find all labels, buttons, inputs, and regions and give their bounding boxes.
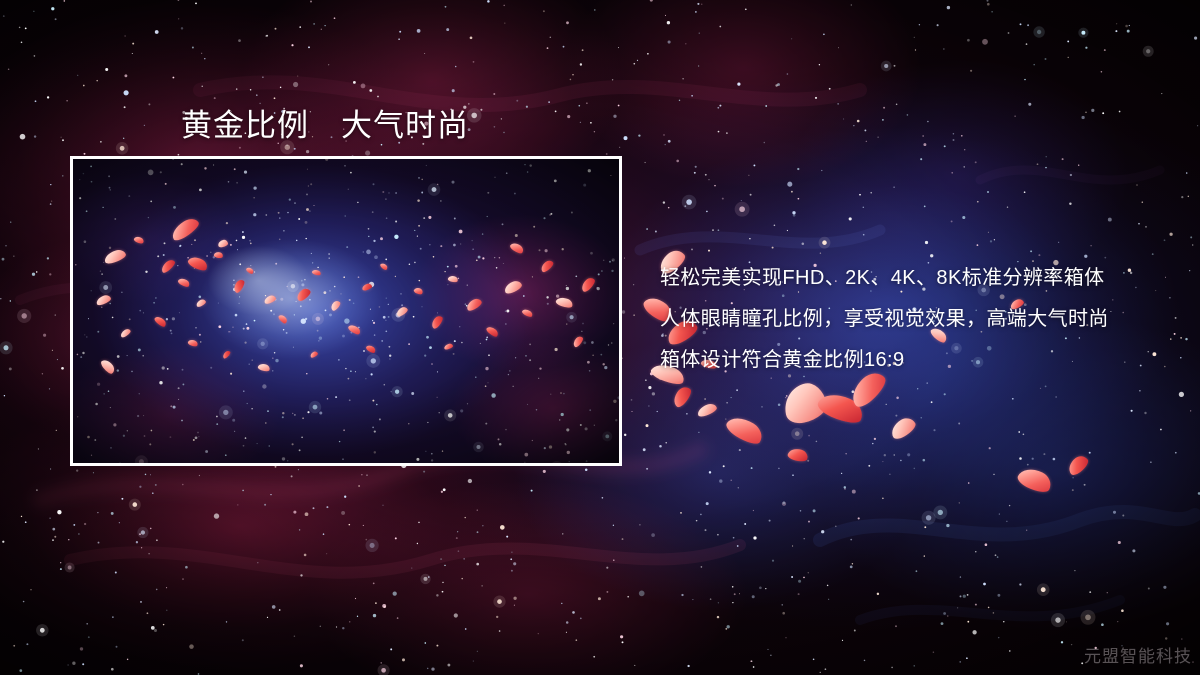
framed-image-panel [70,156,622,466]
petal [1065,453,1091,478]
body-text-block: 轻松完美实现FHD、2K、4K、8K标准分辨率箱体 人体眼睛瞳孔比例，享受视觉效… [660,258,1160,381]
petal [781,380,830,426]
petal [1015,464,1054,497]
panel-image [73,159,619,463]
body-line-1: 轻松完美实现FHD、2K、4K、8K标准分辨率箱体 [660,258,1160,299]
petal [670,384,694,409]
petal [888,415,919,442]
watermark-logo-text: 元盟智能科技 [1084,642,1192,667]
body-line-2: 人体眼睛瞳孔比例，享受视觉效果，高端大气时尚 [660,299,1160,340]
presentation-slide: 黄金比例 大气时尚 轻松完美实现FHD、2K、4K、8K标准分辨率箱体 人体眼睛… [0,0,1200,675]
body-line-3: 箱体设计符合黄金比例16:9 [660,340,1160,381]
petal [815,388,867,429]
panel-vignette [73,159,619,463]
petal [787,446,810,463]
slide-title: 黄金比例 大气时尚 [181,100,469,145]
petal [724,411,767,448]
petal [696,402,718,418]
